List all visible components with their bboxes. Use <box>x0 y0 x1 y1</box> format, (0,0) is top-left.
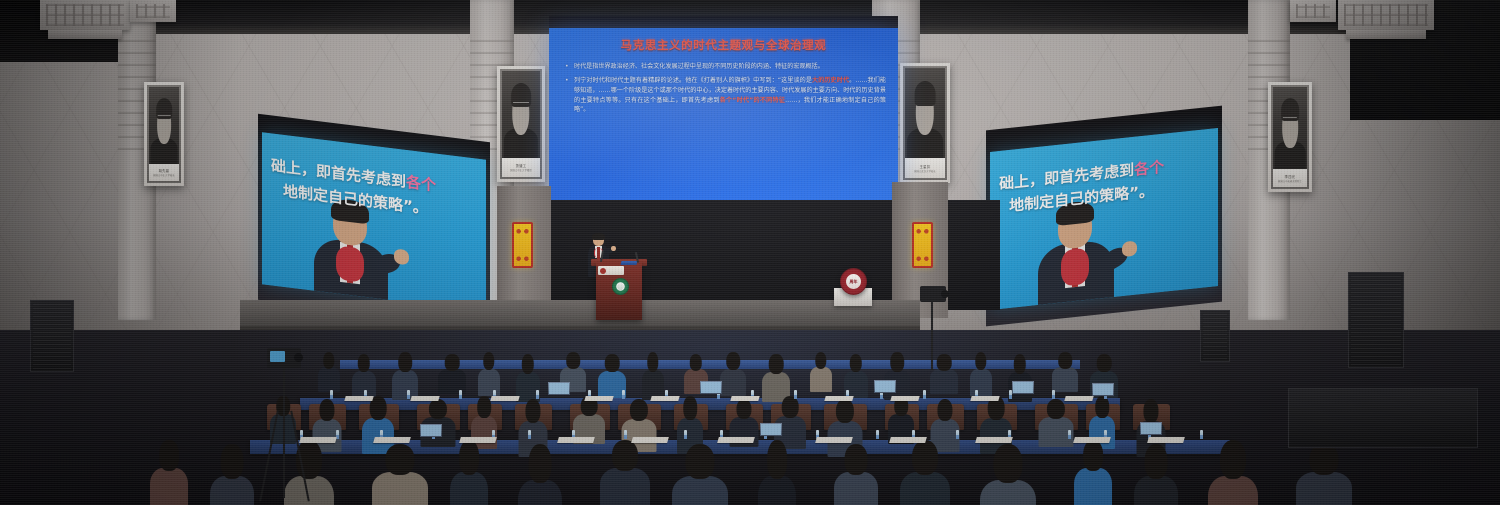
glasses-icon <box>513 102 529 108</box>
audience-member-body <box>900 472 950 505</box>
audience-member-head <box>525 399 540 423</box>
audience-member-head <box>1083 440 1103 471</box>
water-bottle <box>1068 430 1071 439</box>
audience-member-body <box>372 472 428 505</box>
audience-member <box>518 444 562 505</box>
water-bottle <box>794 390 797 399</box>
text-segment: 各个 <box>1134 158 1164 179</box>
podium-laptop <box>621 261 638 265</box>
audience-member <box>600 440 650 505</box>
audience-member-body <box>318 367 340 392</box>
plaque-subtitle: 原国立中正大学教授 <box>510 168 532 172</box>
gold-scroll-panel-right <box>912 222 933 268</box>
audience-member-head <box>358 354 370 372</box>
audience-member-head <box>483 352 494 370</box>
audience-member <box>758 440 796 505</box>
audience-member <box>372 444 428 505</box>
audience-member-head <box>319 399 334 421</box>
audience-member-body <box>1052 367 1078 392</box>
audience-member-head <box>1014 354 1026 374</box>
camera-monitor-screen <box>270 351 285 362</box>
audience-member-head <box>683 396 697 420</box>
university-seal-icon <box>612 278 629 295</box>
laptop <box>1012 381 1034 394</box>
audience-member-body <box>834 472 878 505</box>
portrait-photo <box>149 87 179 164</box>
document-paper <box>631 437 669 443</box>
loudspeaker-stack <box>30 300 74 372</box>
audience-member-head <box>428 399 446 419</box>
audience-member-body <box>672 476 728 505</box>
audience-member <box>450 440 488 505</box>
water-bottle <box>923 390 926 399</box>
audience-member-head <box>323 352 334 369</box>
audience-member-head <box>459 440 479 475</box>
audience-member-body <box>600 468 650 505</box>
portrait-plaque: 胡先骕 原国立中正大学校长 <box>149 164 179 181</box>
audience-member-head <box>1095 396 1109 418</box>
audience-member-head <box>835 399 853 423</box>
audience-member-head <box>850 354 862 372</box>
audience-member-head <box>385 444 414 475</box>
laptop-screen <box>1013 382 1033 393</box>
audience-member-body <box>1134 476 1178 505</box>
audience-member-body <box>518 480 562 505</box>
laptop-screen <box>421 425 441 436</box>
document-paper <box>890 396 919 401</box>
audience-member <box>720 352 746 396</box>
audience-member-body <box>980 480 1036 505</box>
nameplate-seal-icon <box>600 268 606 274</box>
audience-member <box>210 444 254 505</box>
anniversary-seal-text: 周年 <box>841 269 866 294</box>
water-bottle <box>1052 390 1055 399</box>
audience-member <box>1296 444 1352 505</box>
laptop-screen <box>761 424 781 435</box>
audience-member-head <box>1097 354 1112 372</box>
audience-member-head <box>221 444 244 479</box>
audience-member-head <box>937 399 952 421</box>
laptop-screen <box>1141 423 1161 434</box>
audience-member <box>438 354 466 394</box>
scroll-ornament <box>516 226 529 264</box>
loudspeaker-stack <box>1348 272 1404 368</box>
laptop <box>1092 383 1114 396</box>
audience-member-head <box>912 440 938 475</box>
laptop-screen <box>1093 384 1113 395</box>
audience-member <box>672 444 728 505</box>
laptop <box>548 382 570 395</box>
camera-lens-icon <box>294 353 303 362</box>
auditorium-photo: 胡先骕 原国立中正大学校长 萧蘧工 原国立中正大学教授 王星拱 原国立武汉大学校… <box>0 0 1500 505</box>
portrait-plaque: 王星拱 原国立武汉大学校长 <box>905 158 945 178</box>
audience-member-head <box>767 440 787 479</box>
podium-nameplate <box>598 266 624 275</box>
portrait-left: 萧蘧工 原国立中正大学教授 <box>497 66 545 182</box>
document-paper <box>1147 437 1185 443</box>
document-paper <box>1064 396 1093 401</box>
document-paper <box>970 396 999 401</box>
audience-member <box>980 444 1036 505</box>
audience-member-head <box>937 354 952 371</box>
water-bottle <box>528 430 531 439</box>
audience-member <box>762 354 790 402</box>
water-bottle <box>330 390 333 399</box>
audience-member <box>810 352 832 392</box>
document-paper <box>490 396 519 401</box>
laptop <box>700 381 722 394</box>
audience-member-body <box>210 476 254 505</box>
audience-member-head <box>690 354 702 371</box>
audience-member-head <box>726 352 740 370</box>
document-paper <box>730 396 759 401</box>
audience-member-head <box>845 444 868 475</box>
laptop <box>760 423 782 436</box>
anniversary-seal-icon: 周年 <box>840 268 867 295</box>
gold-scroll-panel-left <box>512 222 533 268</box>
water-bottle <box>876 430 879 439</box>
audience-member <box>392 352 418 400</box>
plaque-subtitle: 原国立中正大学校长 <box>153 173 175 177</box>
audience-member-head <box>1046 399 1064 419</box>
audience-member-body <box>810 367 832 392</box>
audience-member <box>900 440 950 505</box>
portrait-far-left: 胡先骕 原国立中正大学校长 <box>144 82 184 186</box>
portrait-plaque: 萧蘧工 原国立中正大学教授 <box>502 158 540 177</box>
document-paper <box>889 437 927 443</box>
audience-member-head <box>398 352 412 372</box>
document-paper <box>584 396 613 401</box>
loudspeaker-stack <box>1200 310 1230 362</box>
audience-member-head <box>782 396 799 418</box>
water-bottle <box>407 390 410 399</box>
water-bottle <box>536 390 539 399</box>
laptop <box>420 424 442 437</box>
left-projection-screen: 础上，即首先考虑到各个地制定自己的策略”。 <box>262 132 486 312</box>
audience-member <box>1134 444 1178 505</box>
audience-member <box>970 352 992 396</box>
audience-member-head <box>975 352 986 370</box>
document-paper <box>815 437 853 443</box>
audience-member <box>834 444 878 505</box>
glasses-icon <box>1283 117 1297 123</box>
glasses-icon <box>158 115 171 120</box>
audience-member-body <box>970 369 992 396</box>
audience-member-body <box>930 369 958 394</box>
water-bottle <box>956 430 959 439</box>
audience-member-head <box>612 440 638 471</box>
audience-member <box>1038 399 1073 447</box>
audience-member-head <box>736 399 751 419</box>
audience-member <box>478 352 500 396</box>
audience-member-body <box>1074 468 1112 505</box>
document-paper <box>1073 437 1111 443</box>
scroll-ornament <box>916 226 929 264</box>
audience-member-head <box>566 352 580 369</box>
audience-member-head <box>993 444 1022 483</box>
audience-member-head <box>445 354 460 371</box>
audience-member <box>1052 352 1078 392</box>
water-bottle <box>1200 430 1203 439</box>
main-projection-screen: 马克思主义的时代主题观与全球治理观 • 时代是指世界政治经济、社会文化发展过程中… <box>549 28 898 204</box>
audience-member-body <box>1296 472 1352 505</box>
document-paper <box>717 437 755 443</box>
document-paper <box>410 396 439 401</box>
portrait-far-right: 李四光 原国立中央研究院院士 <box>1268 82 1312 192</box>
water-bottle <box>624 430 627 439</box>
camera-lens-icon <box>941 290 949 298</box>
portrait-photo <box>1273 87 1307 169</box>
portrait-right: 王星拱 原国立武汉大学校长 <box>900 63 950 183</box>
document-paper <box>459 437 497 443</box>
audience-member-head <box>647 352 658 372</box>
tripod-leg <box>931 300 933 370</box>
portrait-photo <box>905 68 945 158</box>
document-paper <box>824 396 853 401</box>
audience-member-head <box>1220 440 1246 479</box>
document-paper <box>650 396 679 401</box>
water-bottle <box>684 430 687 439</box>
plaque-subtitle: 原国立中央研究院院士 <box>1278 179 1302 183</box>
audience-member-head <box>815 352 826 369</box>
laptop-screen <box>875 381 895 392</box>
portrait-photo <box>502 71 540 158</box>
audience-member-head <box>890 352 904 372</box>
audience-member-body <box>720 369 746 396</box>
audience-member <box>150 440 188 505</box>
audience-member-body <box>150 468 188 505</box>
document-paper <box>975 437 1013 443</box>
document-paper <box>557 437 595 443</box>
audience-member-head <box>1309 444 1338 475</box>
document-paper <box>373 437 411 443</box>
laptop-screen <box>549 383 569 394</box>
audience-member-head <box>529 444 552 483</box>
equipment-case <box>1288 388 1478 448</box>
document-paper <box>344 396 373 401</box>
audience-member <box>930 354 958 394</box>
document-paper <box>299 437 337 443</box>
laptop <box>874 380 896 393</box>
audience-member-head <box>477 396 491 418</box>
water-bottle <box>459 390 462 399</box>
laptop <box>1140 422 1162 435</box>
audience-member <box>642 352 664 400</box>
audience-member-body <box>758 476 796 505</box>
audience-member <box>318 352 340 392</box>
audience-member-head <box>159 440 179 471</box>
audience-member-head <box>1143 399 1158 423</box>
water-bottle <box>622 390 625 399</box>
audience-member-head <box>522 354 534 374</box>
audience-member-head <box>769 354 784 374</box>
audience-member <box>1208 440 1258 505</box>
text-segment: 各个 <box>406 173 436 195</box>
audience-member-head <box>1145 444 1168 479</box>
audience-member-body <box>478 369 500 396</box>
audience-member-head <box>605 354 620 372</box>
audience-member-body <box>1208 476 1258 505</box>
plaque-subtitle: 原国立武汉大学校长 <box>914 169 936 173</box>
audience-member-head <box>629 399 647 421</box>
audience-member <box>284 440 334 505</box>
audience-member-body <box>450 472 488 505</box>
audience-member-head <box>685 444 714 479</box>
right-projection-screen: 础上，即首先考虑到各个地制定自己的策略”。 <box>990 128 1218 310</box>
portrait-plaque: 李四光 原国立中央研究院院士 <box>1273 169 1307 187</box>
tripod-leg <box>283 368 285 498</box>
laptop-screen <box>701 382 721 393</box>
audience-member-head <box>1058 352 1072 369</box>
audience-member <box>1074 440 1112 505</box>
